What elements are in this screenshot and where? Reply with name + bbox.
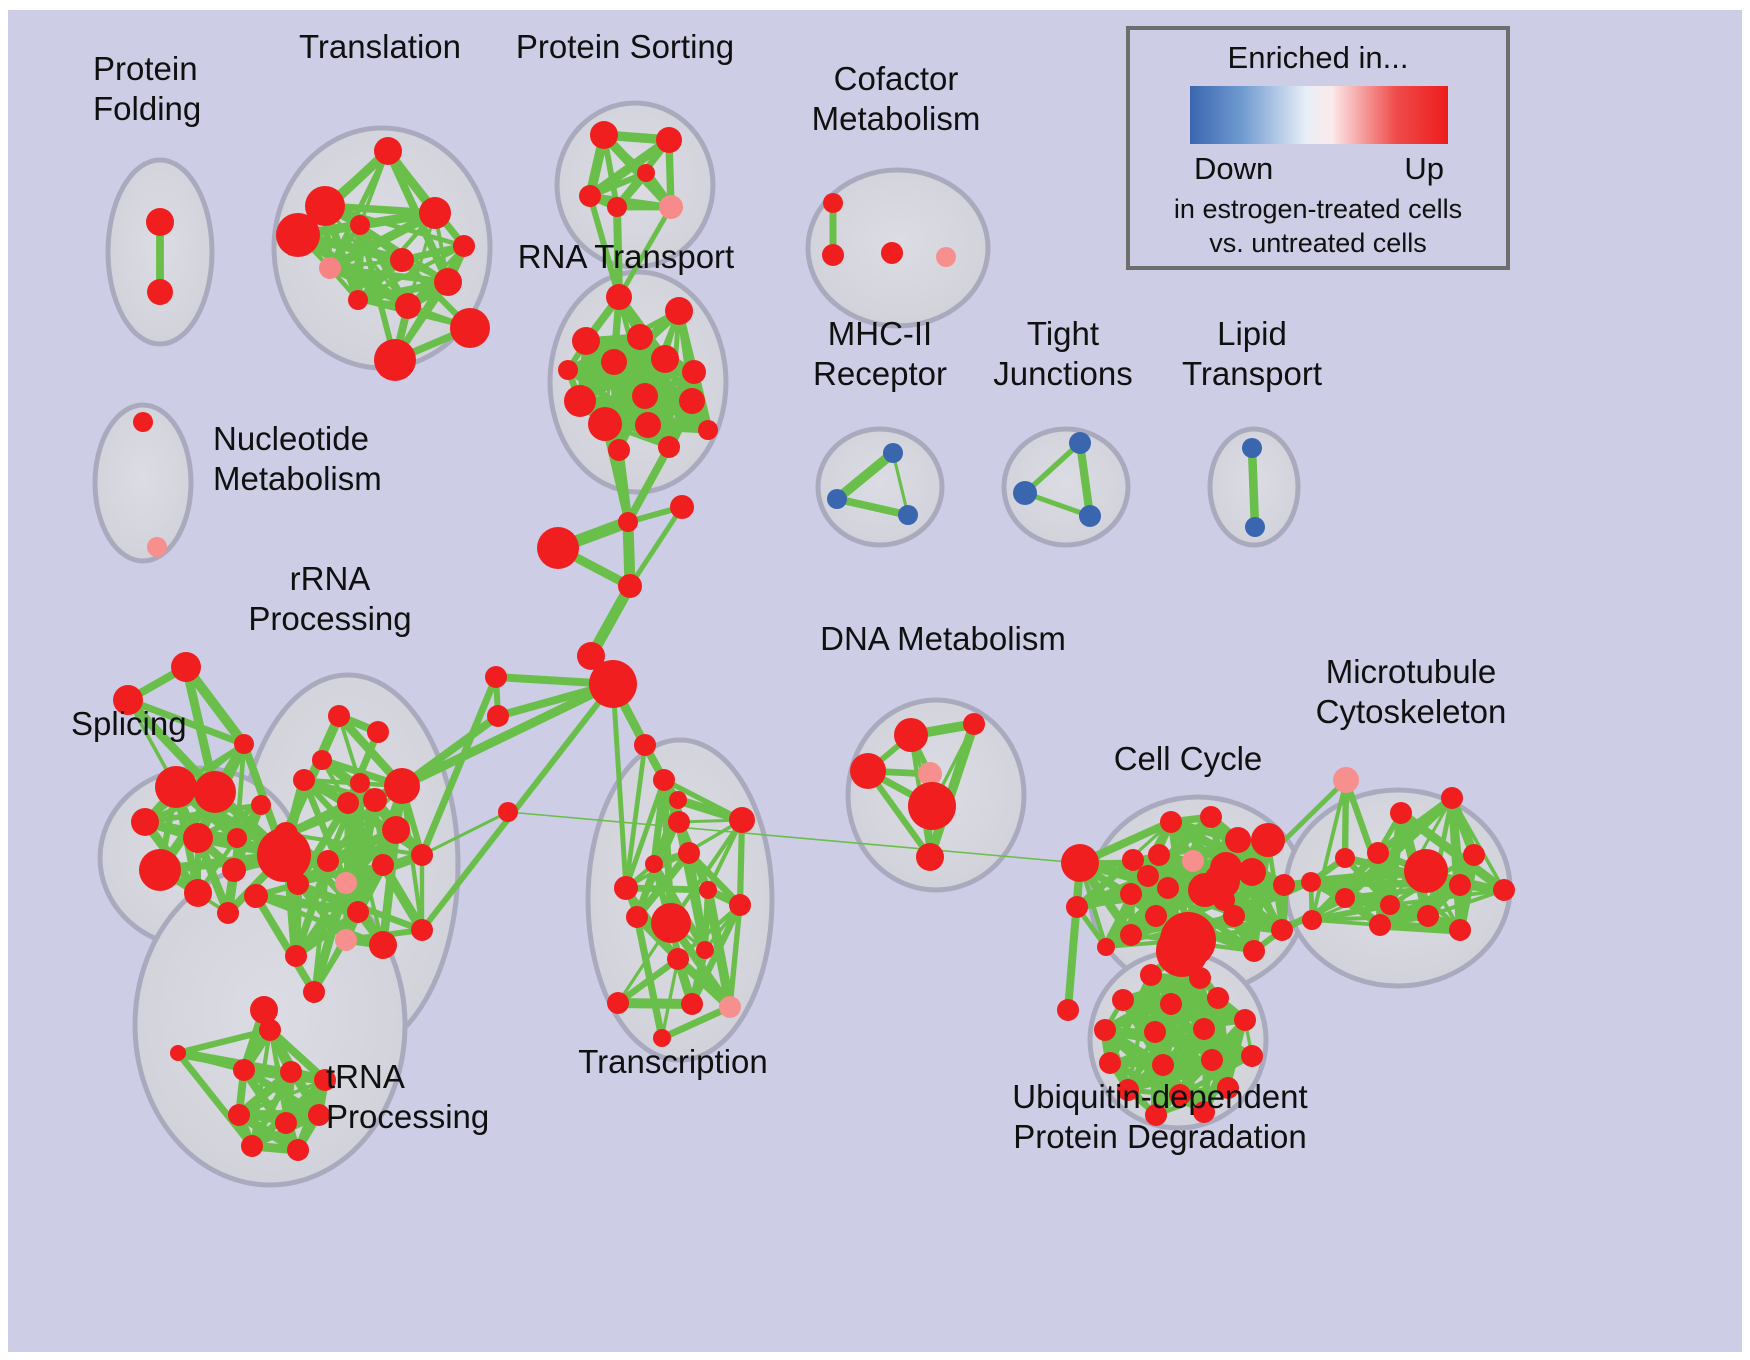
network-node[interactable]: [170, 1045, 186, 1061]
network-edge: [618, 1003, 692, 1004]
network-node[interactable]: [653, 769, 675, 791]
cluster-label-line: Transcription: [578, 1043, 768, 1080]
network-node[interactable]: [411, 844, 433, 866]
network-node[interactable]: [670, 495, 694, 519]
network-node[interactable]: [719, 996, 741, 1018]
network-node[interactable]: [607, 197, 627, 217]
network-node[interactable]: [335, 929, 357, 951]
cluster-label-line: Nucleotide: [213, 420, 369, 457]
cluster-label-line: Metabolism: [213, 460, 382, 497]
network-node[interactable]: [280, 1061, 302, 1083]
network-node[interactable]: [485, 666, 507, 688]
cluster-label-translation: Translation: [299, 28, 461, 65]
network-node[interactable]: [384, 768, 420, 804]
network-node[interactable]: [898, 505, 918, 525]
cluster-label-cell-cycle: Cell Cycle: [1114, 740, 1263, 777]
network-canvas: ProteinFoldingTranslationProtein Sorting…: [8, 10, 1742, 1352]
cluster-ellipse: [818, 429, 942, 545]
cluster-label-line: MHC-II: [828, 315, 932, 352]
network-node[interactable]: [1238, 858, 1266, 886]
network-node[interactable]: [347, 901, 369, 923]
network-node[interactable]: [1145, 905, 1167, 927]
cluster-label-line: Protein Degradation: [1013, 1118, 1307, 1155]
network-node[interactable]: [1097, 938, 1115, 956]
legend-subtitle-line1: in estrogen-treated cells: [1174, 194, 1462, 224]
network-node[interactable]: [669, 791, 687, 809]
network-node[interactable]: [827, 489, 847, 509]
network-node[interactable]: [963, 713, 985, 735]
legend-subtitle-line2: vs. untreated cells: [1209, 228, 1427, 258]
legend-up-label: Up: [1404, 151, 1444, 186]
network-node[interactable]: [822, 244, 844, 266]
network-node[interactable]: [1156, 925, 1208, 977]
network-node[interactable]: [1302, 910, 1322, 930]
network-node[interactable]: [665, 297, 693, 325]
cluster-label-line: Processing: [248, 600, 411, 637]
network-node[interactable]: [908, 782, 956, 830]
network-node[interactable]: [419, 197, 451, 229]
cluster-label-line: Protein Sorting: [516, 28, 734, 65]
cluster-label-mhc-ii-receptor: MHC-IIReceptor: [813, 315, 947, 392]
network-node[interactable]: [729, 894, 751, 916]
cluster-label-line: Cytoskeleton: [1316, 693, 1507, 730]
network-node[interactable]: [1140, 964, 1162, 986]
cluster-label-protein-sorting: Protein Sorting: [516, 28, 734, 65]
network-node[interactable]: [1160, 811, 1182, 833]
network-node[interactable]: [1160, 993, 1182, 1015]
network-node[interactable]: [729, 807, 755, 833]
network-node[interactable]: [618, 512, 638, 532]
network-node[interactable]: [1335, 888, 1355, 908]
network-node[interactable]: [564, 385, 596, 417]
network-node[interactable]: [303, 981, 325, 1003]
cluster-label-splicing: Splicing: [71, 705, 187, 742]
cluster-label-line: Transport: [1182, 355, 1322, 392]
cluster-label-line: RNA Transport: [518, 238, 734, 275]
network-node[interactable]: [1066, 896, 1088, 918]
network-node[interactable]: [1390, 802, 1412, 824]
network-node[interactable]: [632, 383, 658, 409]
network-node[interactable]: [1335, 848, 1355, 868]
network-node[interactable]: [682, 360, 706, 384]
network-node[interactable]: [1404, 849, 1448, 893]
network-node[interactable]: [233, 1059, 255, 1081]
network-node[interactable]: [1193, 1018, 1215, 1040]
cluster-label-line: Translation: [299, 28, 461, 65]
network-node[interactable]: [1243, 940, 1265, 962]
cluster-label-line: Tight: [1027, 315, 1099, 352]
network-node[interactable]: [293, 769, 315, 791]
network-node[interactable]: [589, 660, 637, 708]
cluster-label-nucleotide-metabolism: NucleotideMetabolism: [213, 420, 382, 497]
network-node[interactable]: [259, 1019, 281, 1041]
cluster-label-line: DNA Metabolism: [820, 620, 1066, 657]
enrichment-network-svg: ProteinFoldingTranslationProtein Sorting…: [8, 10, 1742, 1352]
network-node[interactable]: [227, 828, 247, 848]
network-node[interactable]: [450, 308, 490, 348]
cluster-label-line: Splicing: [71, 705, 187, 742]
network-node[interactable]: [1225, 827, 1251, 853]
cluster-label-line: Cell Cycle: [1114, 740, 1263, 777]
network-node[interactable]: [1099, 1052, 1121, 1074]
cluster-label-tight-junctions: TightJunctions: [993, 315, 1132, 392]
cluster-label-line: Receptor: [813, 355, 947, 392]
network-node[interactable]: [147, 537, 167, 557]
network-node[interactable]: [1200, 806, 1222, 828]
network-node[interactable]: [1204, 863, 1240, 899]
network-node[interactable]: [147, 279, 173, 305]
network-node[interactable]: [1069, 432, 1091, 454]
network-node[interactable]: [1057, 999, 1079, 1021]
network-node[interactable]: [823, 193, 843, 213]
network-node[interactable]: [1144, 1021, 1166, 1043]
cluster-label-rna-transport: RNA Transport: [518, 238, 734, 275]
network-node[interactable]: [1241, 1045, 1263, 1067]
network-node[interactable]: [498, 802, 518, 822]
network-node[interactable]: [411, 919, 433, 941]
network-node[interactable]: [390, 248, 414, 272]
network-node[interactable]: [1112, 989, 1134, 1011]
network-node[interactable]: [634, 734, 656, 756]
network-edge: [1068, 907, 1077, 1010]
legend-title: Enriched in...: [1228, 40, 1409, 75]
cluster-label-protein-folding: ProteinFolding: [93, 50, 201, 127]
cluster-label-line: Folding: [93, 90, 201, 127]
network-node[interactable]: [659, 195, 683, 219]
cluster-label-dna-metabolism: DNA Metabolism: [820, 620, 1066, 657]
network-node[interactable]: [627, 324, 653, 350]
network-node[interactable]: [1273, 874, 1295, 896]
network-node[interactable]: [679, 388, 705, 414]
network-node[interactable]: [1152, 1054, 1174, 1076]
cluster-label-cofactor-metabolism: CofactorMetabolism: [812, 60, 981, 137]
network-node[interactable]: [350, 215, 370, 235]
network-node[interactable]: [312, 750, 332, 770]
network-node[interactable]: [1380, 895, 1400, 915]
network-node[interactable]: [881, 242, 903, 264]
network-node[interactable]: [590, 121, 618, 149]
network-node[interactable]: [374, 137, 402, 165]
network-node[interactable]: [369, 931, 397, 959]
network-node[interactable]: [285, 945, 307, 967]
cluster-label-line: Ubiquitin-dependent: [1012, 1078, 1307, 1115]
network-node[interactable]: [1120, 924, 1142, 946]
network-node[interactable]: [1271, 919, 1293, 941]
network-node[interactable]: [1493, 879, 1515, 901]
network-node[interactable]: [1449, 874, 1471, 896]
network-node[interactable]: [372, 854, 394, 876]
network-node[interactable]: [133, 412, 153, 432]
network-node[interactable]: [241, 1135, 263, 1157]
network-node[interactable]: [601, 349, 627, 375]
network-node[interactable]: [287, 1139, 309, 1161]
network-node[interactable]: [348, 290, 368, 310]
network-node[interactable]: [1122, 849, 1144, 871]
network-node[interactable]: [287, 873, 309, 895]
cluster-label-line: Metabolism: [812, 100, 981, 137]
network-node[interactable]: [1367, 842, 1389, 864]
cluster-label-line: Protein: [93, 50, 198, 87]
network-node[interactable]: [579, 185, 601, 207]
network-node[interactable]: [658, 436, 680, 458]
network-node[interactable]: [1417, 905, 1439, 927]
cluster-label-microtubule-cytoskeleton: MicrotubuleCytoskeleton: [1316, 653, 1507, 730]
network-node[interactable]: [139, 849, 181, 891]
cluster-label-rrna-processing: rRNAProcessing: [248, 560, 411, 637]
network-node[interactable]: [916, 843, 944, 871]
network-node[interactable]: [228, 1104, 250, 1126]
network-edge: [1252, 448, 1255, 527]
network-node[interactable]: [656, 127, 682, 153]
network-node[interactable]: [275, 1112, 297, 1134]
network-node[interactable]: [234, 734, 254, 754]
network-node[interactable]: [1182, 850, 1204, 872]
network-node[interactable]: [1301, 872, 1321, 892]
network-edge: [358, 225, 360, 300]
cluster-label-line: Junctions: [993, 355, 1132, 392]
network-node[interactable]: [1137, 865, 1159, 887]
network-node[interactable]: [194, 771, 236, 813]
network-node[interactable]: [608, 439, 630, 461]
cluster-label-line: Lipid: [1217, 315, 1287, 352]
network-node[interactable]: [699, 881, 717, 899]
network-node[interactable]: [217, 902, 239, 924]
network-node[interactable]: [274, 822, 298, 846]
cluster-label-line: Processing: [326, 1098, 489, 1135]
network-node[interactable]: [335, 872, 357, 894]
network-node[interactable]: [1333, 767, 1359, 793]
network-node[interactable]: [1463, 844, 1485, 866]
network-node[interactable]: [1079, 505, 1101, 527]
cluster-label-line: Microtubule: [1326, 653, 1497, 690]
network-node[interactable]: [1449, 919, 1471, 941]
network-node[interactable]: [894, 718, 928, 752]
network-node[interactable]: [635, 412, 661, 438]
network-node[interactable]: [146, 208, 174, 236]
network-node[interactable]: [155, 766, 197, 808]
network-node[interactable]: [395, 293, 421, 319]
network-node[interactable]: [572, 327, 600, 355]
network-node[interactable]: [588, 407, 622, 441]
network-node[interactable]: [171, 652, 201, 682]
network-node[interactable]: [1251, 823, 1285, 857]
network-node[interactable]: [1094, 1019, 1116, 1041]
network-node[interactable]: [1120, 883, 1142, 905]
network-edge: [705, 890, 708, 950]
cluster-label-line: tRNA: [326, 1058, 405, 1095]
network-node[interactable]: [558, 360, 578, 380]
network-node[interactable]: [183, 823, 213, 853]
network-node[interactable]: [626, 906, 648, 928]
network-node[interactable]: [487, 705, 509, 727]
network-node[interactable]: [698, 420, 718, 440]
network-node[interactable]: [850, 753, 886, 789]
network-node[interactable]: [317, 850, 339, 872]
network-node[interactable]: [222, 858, 246, 882]
figure-root: ProteinFoldingTranslationProtein Sorting…: [0, 0, 1750, 1360]
network-node[interactable]: [667, 948, 689, 970]
network-node[interactable]: [537, 527, 579, 569]
network-node[interactable]: [276, 213, 320, 257]
network-node[interactable]: [645, 855, 663, 873]
network-node[interactable]: [607, 992, 629, 1014]
network-node[interactable]: [434, 268, 462, 296]
network-node[interactable]: [1242, 438, 1262, 458]
network-node[interactable]: [1441, 787, 1463, 809]
network-node[interactable]: [1234, 1009, 1256, 1031]
network-node[interactable]: [883, 443, 903, 463]
network-node[interactable]: [328, 705, 350, 727]
cluster-label-transcription: Transcription: [578, 1043, 768, 1080]
network-node[interactable]: [244, 884, 268, 908]
cluster-label-line: rRNA: [290, 560, 371, 597]
network-node[interactable]: [1013, 481, 1037, 505]
network-node[interactable]: [614, 876, 638, 900]
network-node[interactable]: [1207, 987, 1229, 1009]
network-node[interactable]: [319, 257, 341, 279]
network-node[interactable]: [374, 339, 416, 381]
network-node[interactable]: [1369, 914, 1391, 936]
network-node[interactable]: [618, 574, 642, 598]
network-node[interactable]: [651, 345, 679, 373]
network-node[interactable]: [681, 993, 703, 1015]
network-node[interactable]: [363, 788, 387, 812]
network-node[interactable]: [606, 284, 632, 310]
network-edge: [402, 684, 613, 786]
network-node[interactable]: [367, 721, 389, 743]
legend-gradient-bar: [1190, 86, 1448, 144]
cluster-mhc-ii-receptor[interactable]: [818, 429, 942, 545]
cluster-label-line: Cofactor: [834, 60, 959, 97]
network-node[interactable]: [1061, 844, 1099, 882]
network-node[interactable]: [131, 808, 159, 836]
network-node[interactable]: [1148, 844, 1170, 866]
network-node[interactable]: [1201, 1049, 1223, 1071]
legend: Enriched in... Down Up in estrogen-treat…: [1128, 28, 1508, 268]
network-node[interactable]: [651, 903, 691, 943]
network-node[interactable]: [678, 842, 700, 864]
network-node[interactable]: [637, 164, 655, 182]
network-node[interactable]: [936, 247, 956, 267]
network-node[interactable]: [668, 811, 690, 833]
legend-down-label: Down: [1194, 151, 1273, 186]
network-node[interactable]: [1157, 877, 1179, 899]
network-node[interactable]: [382, 816, 410, 844]
network-node[interactable]: [696, 941, 714, 959]
network-node[interactable]: [184, 879, 212, 907]
cluster-label-lipid-transport: LipidTransport: [1182, 315, 1322, 392]
network-node[interactable]: [350, 773, 370, 793]
network-node[interactable]: [453, 235, 475, 257]
network-node[interactable]: [337, 792, 359, 814]
network-node[interactable]: [1245, 517, 1265, 537]
network-node[interactable]: [251, 795, 271, 815]
